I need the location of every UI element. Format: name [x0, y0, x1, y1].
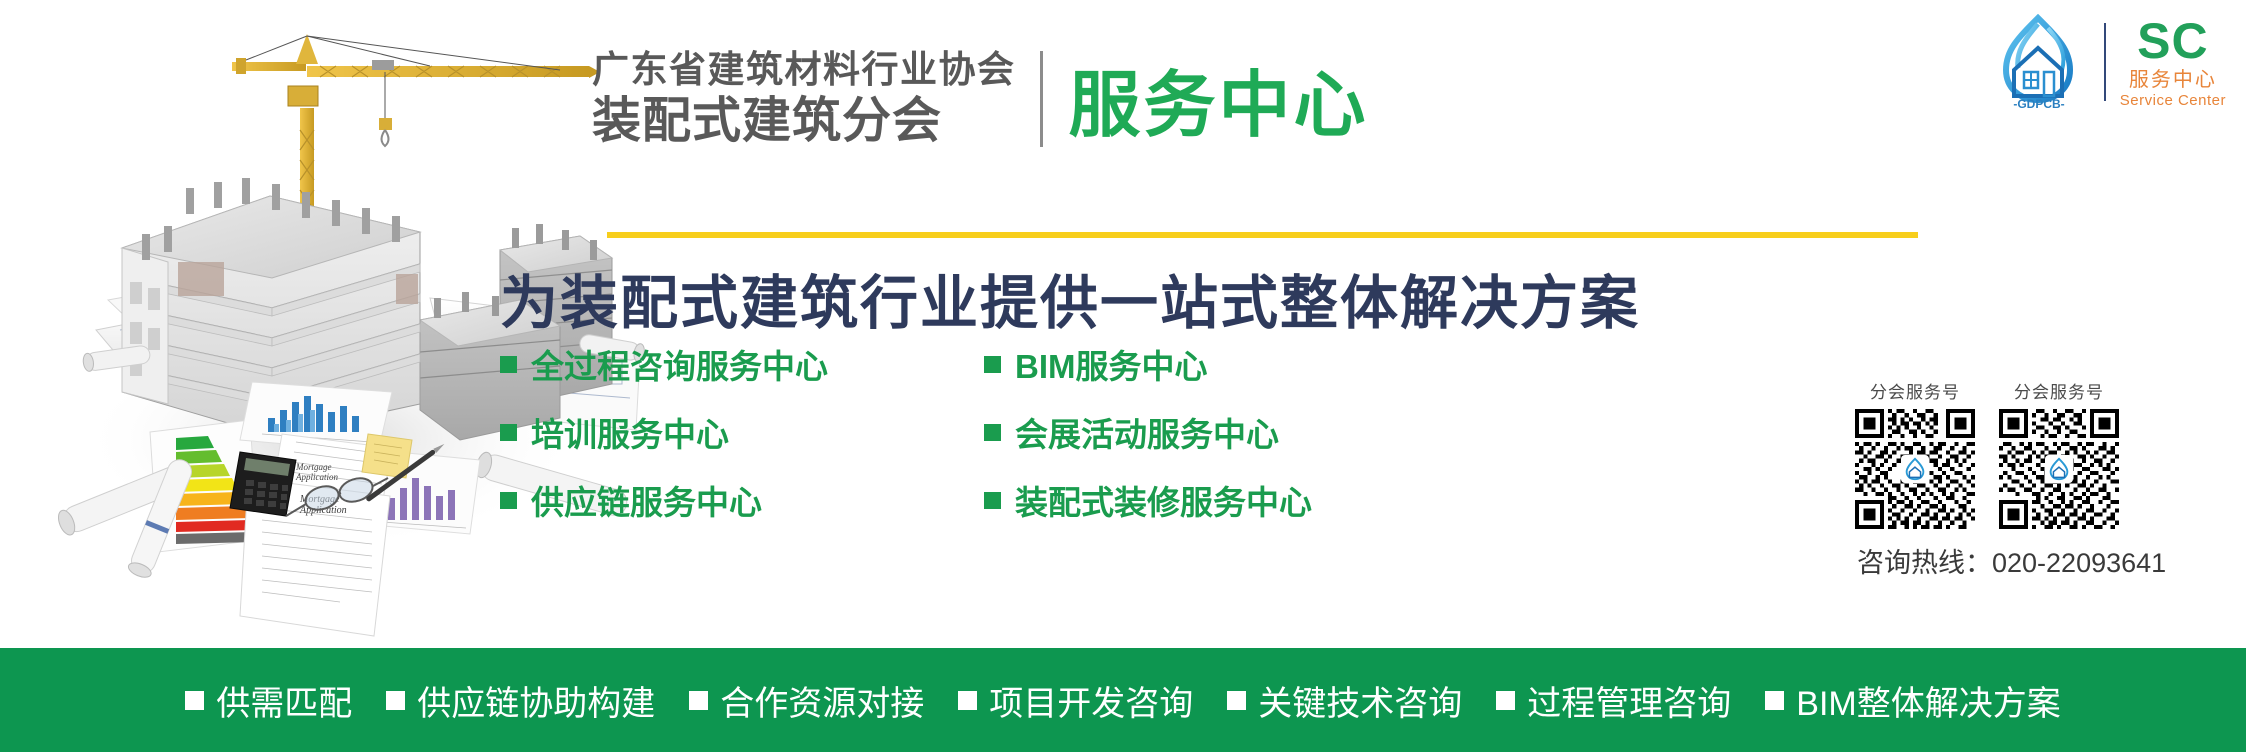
square-bullet-icon — [958, 691, 977, 710]
square-bullet-icon — [984, 356, 1001, 373]
list-item-label: 供应链服务中心 — [531, 476, 762, 524]
yellow-divider-rule — [607, 232, 1918, 238]
service-center-heading: 服务中心 — [1069, 46, 1369, 151]
svg-text:Application: Application — [295, 472, 338, 482]
square-bullet-icon — [1496, 691, 1515, 710]
square-bullet-icon — [984, 424, 1001, 441]
list-item[interactable]: 会展活动服务中心 — [984, 406, 1312, 458]
qr-code-image-1[interactable] — [1855, 409, 1975, 529]
qr-contact-area: 分会服务号 — [1855, 378, 2195, 580]
bottom-bar-item-label: 合作资源对接 — [720, 676, 924, 725]
square-bullet-icon — [500, 424, 517, 441]
list-item[interactable]: BIM服务中心 — [984, 338, 1312, 390]
list-item-label: 装配式装修服务中心 — [1015, 476, 1312, 524]
association-name-line1: 广东省建筑材料行业协会 — [592, 51, 1016, 88]
bottom-bar-item-label: BIM整体解决方案 — [1796, 676, 2060, 725]
qr-embedded-logo-icon — [1901, 455, 1929, 483]
gdpcb-wordmark: -GDPCB- — [2013, 97, 2064, 110]
square-bullet-icon — [689, 691, 708, 710]
bottom-bar-item[interactable]: 项目开发咨询 — [958, 676, 1193, 725]
square-bullet-icon — [1227, 691, 1246, 710]
bottom-bar-item[interactable]: 供应链协助构建 — [386, 676, 655, 725]
sc-label-english: Service Center — [2120, 93, 2226, 108]
qr-cell: 分会服务号 — [1855, 378, 1975, 529]
service-list-right: BIM服务中心 会展活动服务中心 装配式装修服务中心 — [984, 338, 1312, 526]
sc-label-chinese: 服务中心 — [2129, 70, 2217, 90]
bottom-bar-item[interactable]: 过程管理咨询 — [1496, 676, 1731, 725]
bottom-bar-item-label: 关键技术咨询 — [1258, 676, 1462, 725]
list-item-label: 会展活动服务中心 — [1015, 408, 1279, 456]
qr-label: 分会服务号 — [2014, 378, 2104, 403]
association-name-line2: 装配式建筑分会 — [592, 97, 1016, 146]
list-item-label: 培训服务中心 — [531, 408, 729, 456]
hotline-text: 咨询热线：020-22093641 — [1855, 541, 2195, 580]
square-bullet-icon — [1765, 691, 1784, 710]
qr-label: 分会服务号 — [1870, 378, 1960, 403]
bottom-bar-item[interactable]: 供需匹配 — [185, 676, 352, 725]
bottom-bar-item-label: 供需匹配 — [216, 676, 352, 725]
list-item-label: BIM服务中心 — [1015, 340, 1208, 388]
list-item-label: 全过程咨询服务中心 — [531, 340, 828, 388]
logo-divider — [2104, 23, 2106, 101]
service-center-lists: 全过程咨询服务中心 培训服务中心 供应链服务中心 BIM服务中心 会展活动服务中… — [500, 338, 1312, 526]
brand-logo: -GDPCB- SC 服务中心 Service Center — [1988, 14, 2226, 110]
page-title: 为装配式建筑行业提供一站式整体解决方案 — [500, 256, 1640, 340]
list-item[interactable]: 培训服务中心 — [500, 406, 828, 458]
gdpcb-flame-house-logo-icon: -GDPCB- — [1988, 14, 2090, 110]
bottom-bar-item-label: 供应链协助构建 — [417, 676, 655, 725]
bottom-bar-item-label: 过程管理咨询 — [1527, 676, 1731, 725]
service-list-left: 全过程咨询服务中心 培训服务中心 供应链服务中心 — [500, 338, 828, 526]
square-bullet-icon — [984, 492, 1001, 509]
bottom-bar-item[interactable]: 关键技术咨询 — [1227, 676, 1462, 725]
square-bullet-icon — [185, 691, 204, 710]
sc-logo-group: SC 服务中心 Service Center — [2120, 16, 2226, 108]
square-bullet-icon — [386, 691, 405, 710]
svg-text:Mortgage: Mortgage — [295, 462, 332, 472]
calculator — [230, 452, 296, 516]
vertical-divider — [1040, 51, 1043, 147]
square-bullet-icon — [500, 356, 517, 373]
list-item[interactable]: 装配式装修服务中心 — [984, 474, 1312, 526]
qr-embedded-logo-icon — [2045, 455, 2073, 483]
sc-monogram: SC — [2137, 16, 2208, 66]
bottom-items-row: 供需匹配 供应链协助构建 合作资源对接 项目开发咨询 关键技术咨询 过程管理咨询 — [185, 676, 2060, 725]
association-title-block: 广东省建筑材料行业协会 装配式建筑分会 服务中心 — [592, 46, 1369, 151]
qr-cell: 分会服务号 — [1999, 378, 2119, 529]
bottom-bar-item[interactable]: 合作资源对接 — [689, 676, 924, 725]
association-name-stack: 广东省建筑材料行业协会 装配式建筑分会 — [592, 51, 1016, 146]
bottom-bar-item[interactable]: BIM整体解决方案 — [1765, 676, 2060, 725]
qr-code-image-2[interactable] — [1999, 409, 2119, 529]
banner-root: Mortgage Application Mortgage Applicatio… — [0, 0, 2246, 752]
qr-row: 分会服务号 — [1855, 378, 2195, 529]
list-item[interactable]: 全过程咨询服务中心 — [500, 338, 828, 390]
list-item[interactable]: 供应链服务中心 — [500, 474, 828, 526]
bottom-bar-item-label: 项目开发咨询 — [989, 676, 1193, 725]
square-bullet-icon — [500, 492, 517, 509]
bottom-services-bar: 供需匹配 供应链协助构建 合作资源对接 项目开发咨询 关键技术咨询 过程管理咨询 — [0, 648, 2246, 752]
